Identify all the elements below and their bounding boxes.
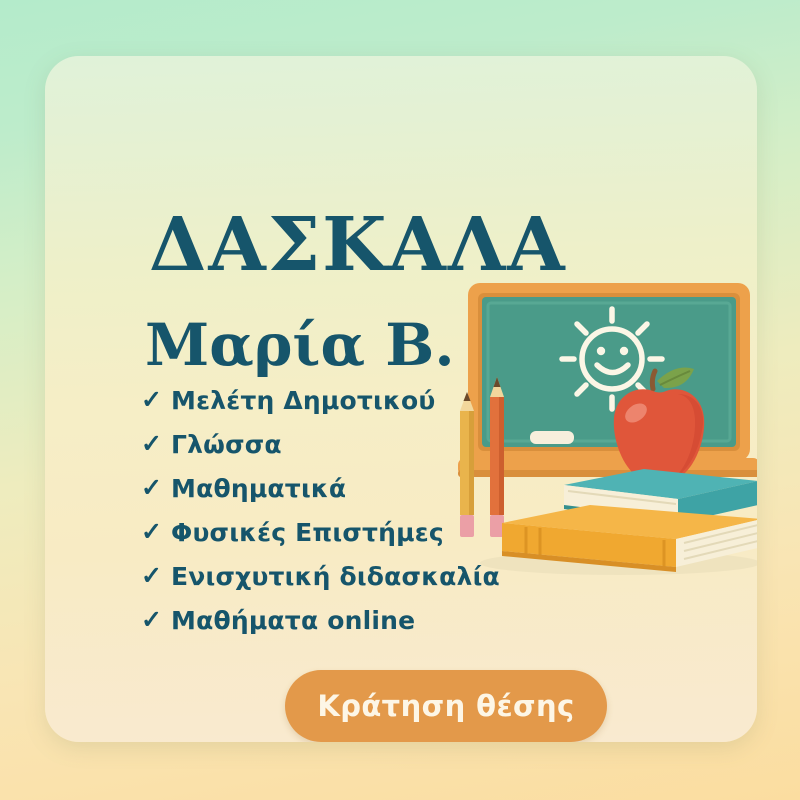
apple-stem — [652, 371, 655, 389]
check-icon: ✓ — [141, 608, 171, 633]
pencil-yellow — [460, 392, 474, 537]
flyer-card: ΔΑΣΚΑΛΑ Μαρία Β. ✓ Μελέτη Δημοτικού ✓ Γλ… — [45, 56, 757, 742]
pencil-yellow-body-shade — [469, 411, 474, 515]
list-item-label: Φυσικές Επιστήμες — [171, 518, 444, 547]
pencil-orange-eraser — [490, 515, 504, 537]
poster-canvas: ΔΑΣΚΑΛΑ Μαρία Β. ✓ Μελέτη Δημοτικού ✓ Γλ… — [0, 0, 800, 800]
check-icon: ✓ — [141, 432, 171, 457]
list-item: ✓ Μαθήματα online — [141, 598, 561, 642]
check-icon: ✓ — [141, 476, 171, 501]
list-item-label: Γλώσσα — [171, 430, 282, 459]
list-item-label: Μαθήματα online — [171, 606, 415, 635]
pencil-yellow-eraser — [460, 515, 474, 537]
chalk-eraser — [530, 431, 574, 444]
classroom-illustration — [440, 261, 757, 591]
sun-eye-right — [620, 347, 628, 355]
check-icon: ✓ — [141, 564, 171, 589]
list-item-label: Μαθηματικά — [171, 474, 346, 503]
book-seat-button[interactable]: Κράτηση θέσης — [285, 670, 607, 742]
check-icon: ✓ — [141, 520, 171, 545]
teacher-name: Μαρία Β. — [145, 316, 455, 374]
sun-eye-left — [597, 347, 605, 355]
check-icon: ✓ — [141, 388, 171, 413]
pencil-orange — [490, 377, 504, 537]
list-item-label: Μελέτη Δημοτικού — [171, 386, 435, 415]
pencil-orange-body-shade — [499, 397, 504, 515]
